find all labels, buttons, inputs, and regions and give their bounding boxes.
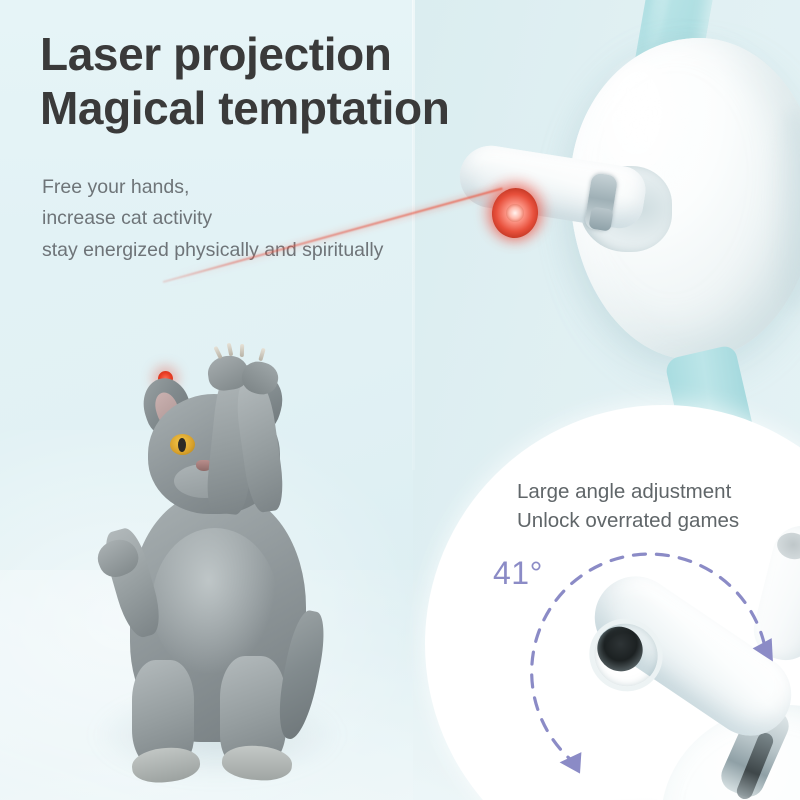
angle-arc-path bbox=[532, 554, 765, 765]
product-device bbox=[440, 0, 800, 460]
cat-pupil-left bbox=[178, 438, 186, 452]
laser-lens-core bbox=[506, 204, 524, 222]
angle-arrow-head-top bbox=[752, 633, 783, 662]
cat-illustration bbox=[70, 360, 390, 800]
inset-circle: Large angle adjustment Unlock overrated … bbox=[425, 405, 800, 800]
angle-arrow-head-bottom bbox=[560, 750, 591, 779]
inset-caption: Large angle adjustment Unlock overrated … bbox=[517, 477, 800, 535]
angle-value-label: 41° bbox=[493, 555, 543, 592]
product-banner: Laser projection Magical temptation Free… bbox=[0, 0, 800, 800]
device-arm-hinge-lower bbox=[588, 206, 613, 231]
inset-caption-line-2: Unlock overrated games bbox=[517, 506, 800, 535]
cat-claw bbox=[240, 344, 244, 357]
inset-caption-line-1: Large angle adjustment bbox=[517, 477, 800, 506]
angle-arc-diagram bbox=[435, 415, 800, 800]
